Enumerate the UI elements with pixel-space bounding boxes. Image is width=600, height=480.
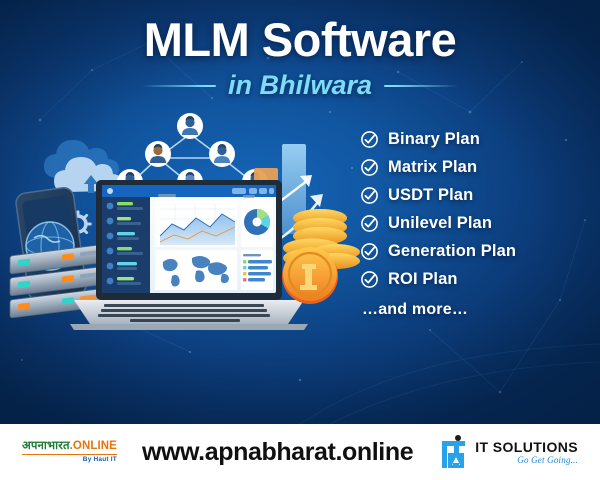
page-title: MLM Software	[0, 16, 600, 63]
apnabharat-online-logo[interactable]: अपनाभारत.ONLINE By Haut IT	[22, 441, 117, 464]
brand-hindi-text: अपनाभारत	[22, 440, 70, 452]
feature-label: Matrix Plan	[388, 158, 477, 177]
feature-label: Generation Plan	[388, 242, 516, 261]
check-circle-icon	[360, 270, 379, 289]
feature-label: Binary Plan	[388, 130, 480, 149]
subtitle-row: in Bhilwara	[0, 72, 600, 99]
it-solutions-figure-icon	[438, 434, 470, 470]
it-solutions-tagline: Go Get Going...	[517, 456, 578, 465]
check-circle-icon	[360, 214, 379, 233]
website-url[interactable]: www.apnabharat.online	[142, 438, 413, 467]
promo-panel: MLM Software in Bhilwara	[0, 0, 600, 424]
feature-label: USDT Plan	[388, 186, 473, 205]
it-solutions-logo[interactable]: IT SOLUTIONS Go Get Going...	[438, 434, 578, 470]
brand-online-text: ONLINE	[73, 440, 117, 452]
dashboard-pie-chart	[241, 195, 273, 247]
brand-byline: By Haut IT	[83, 457, 117, 464]
check-circle-icon	[360, 130, 379, 149]
laptop-dashboard	[70, 180, 308, 330]
list-item: Matrix Plan	[360, 156, 516, 178]
heading-block: MLM Software in Bhilwara	[0, 16, 600, 99]
it-solutions-text: IT SOLUTIONS Go Get Going...	[475, 440, 578, 465]
list-item: Binary Plan	[360, 128, 516, 150]
page-subtitle: in Bhilwara	[228, 72, 372, 99]
mlm-software-illustration	[0, 96, 360, 336]
list-item: Unilevel Plan	[360, 212, 516, 234]
subtitle-rule-left	[142, 85, 216, 87]
dashboard-progress-bars	[241, 250, 273, 290]
dashboard-world-map	[155, 250, 237, 290]
footer-bar: अपनाभारत.ONLINE By Haut IT www.apnabhara…	[0, 424, 600, 480]
it-solutions-title: IT SOLUTIONS	[475, 440, 578, 454]
list-item: Generation Plan	[360, 240, 516, 262]
check-circle-icon	[360, 242, 379, 261]
check-circle-icon	[360, 158, 379, 177]
feature-list: Binary Plan Matrix Plan USDT Plan	[360, 128, 516, 319]
mlm-software-promo-banner: MLM Software in Bhilwara	[0, 0, 600, 480]
brand-wordmark: अपनाभारत.ONLINE	[22, 441, 117, 455]
feature-label: ROI Plan	[388, 270, 458, 289]
featured-coin	[282, 247, 338, 304]
and-more-label: …and more…	[362, 301, 516, 319]
feature-label: Unilevel Plan	[388, 214, 492, 233]
check-circle-icon	[360, 186, 379, 205]
dashboard-area-chart	[155, 194, 237, 247]
subtitle-rule-right	[384, 85, 458, 87]
list-item: USDT Plan	[360, 184, 516, 206]
list-item: ROI Plan	[360, 268, 516, 290]
